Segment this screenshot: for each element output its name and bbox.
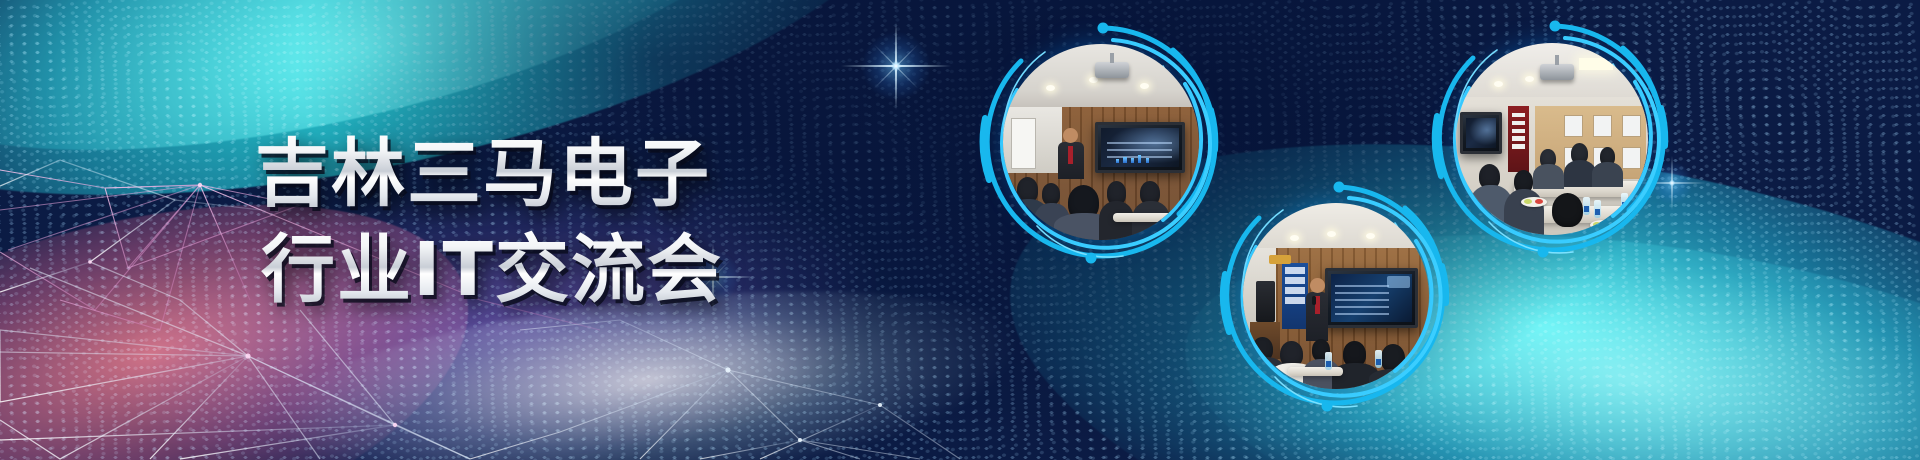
scene-attendee-body [1504, 189, 1544, 235]
scene-plate [1621, 212, 1647, 222]
arc-end-dot [1334, 182, 1345, 193]
scene-audience-head [1042, 183, 1060, 205]
scene-panel-light [1579, 58, 1614, 70]
scene-ceiling-light [1290, 235, 1299, 241]
scene-bottle [1325, 352, 1332, 370]
scene-door-banner [1282, 263, 1308, 330]
scene-bottle [1594, 200, 1601, 218]
scene-plate [1590, 220, 1616, 230]
scene-projector [1095, 62, 1129, 78]
scene-projector [1540, 64, 1574, 80]
scene-attendee-body [1592, 162, 1623, 187]
scene-ceiling-light [1366, 233, 1375, 239]
photo-image-1 [1003, 44, 1199, 240]
photo-image-3 [1243, 203, 1429, 389]
scene-ceiling-light [1525, 76, 1534, 82]
title-line-1: 吉林三马电子 [255, 128, 795, 220]
scene-table [1113, 213, 1180, 223]
banner-root: 吉林三马电子 行业IT交流会 [0, 0, 1920, 460]
scene-screen [1460, 112, 1502, 154]
arc-end-dot [1550, 21, 1561, 32]
photo-circle-2[interactable] [1427, 14, 1677, 264]
scene-speaker [1306, 292, 1328, 340]
photo-circle-3[interactable] [1215, 175, 1457, 417]
photo-circle-1[interactable] [973, 14, 1229, 270]
photo-image-2 [1456, 43, 1648, 235]
title-line-2: 行业IT交流会 [255, 224, 795, 316]
scene-bottle [1621, 193, 1628, 211]
scene-slide [1466, 118, 1496, 148]
arc-end-dot [1086, 253, 1097, 264]
scene-table [1288, 367, 1344, 376]
scene-microphone [1312, 296, 1316, 305]
scene-wall-banner [1508, 106, 1529, 171]
scene-slide-logo [1387, 276, 1410, 288]
scene-attendee-body [1533, 164, 1564, 189]
scene-slide-chart [1113, 153, 1159, 163]
scene-screen [1095, 122, 1185, 173]
scene-exit-sign [1269, 255, 1291, 264]
scene-attendee-body [1564, 160, 1597, 187]
scene-ceiling-light [1327, 231, 1336, 237]
scene-screen [1325, 268, 1418, 328]
scene-attendee-head [1552, 193, 1583, 228]
arc-end-dot [1538, 247, 1549, 258]
arc-end-dot [1322, 401, 1333, 412]
scene-presenter [1058, 142, 1084, 179]
scene-bottle [1375, 350, 1382, 368]
scene-plate [1521, 197, 1547, 207]
banner-title: 吉林三马电子 行业IT交流会 [255, 128, 795, 316]
arc-end-dot [1098, 23, 1109, 34]
scene-ceiling [1243, 203, 1429, 251]
scene-slide-text [1335, 285, 1389, 315]
scene-bottle [1583, 197, 1590, 215]
scene-whiteboard [1011, 118, 1036, 169]
scene-audience-body [1369, 369, 1419, 389]
scene-speaker-box [1256, 281, 1275, 322]
